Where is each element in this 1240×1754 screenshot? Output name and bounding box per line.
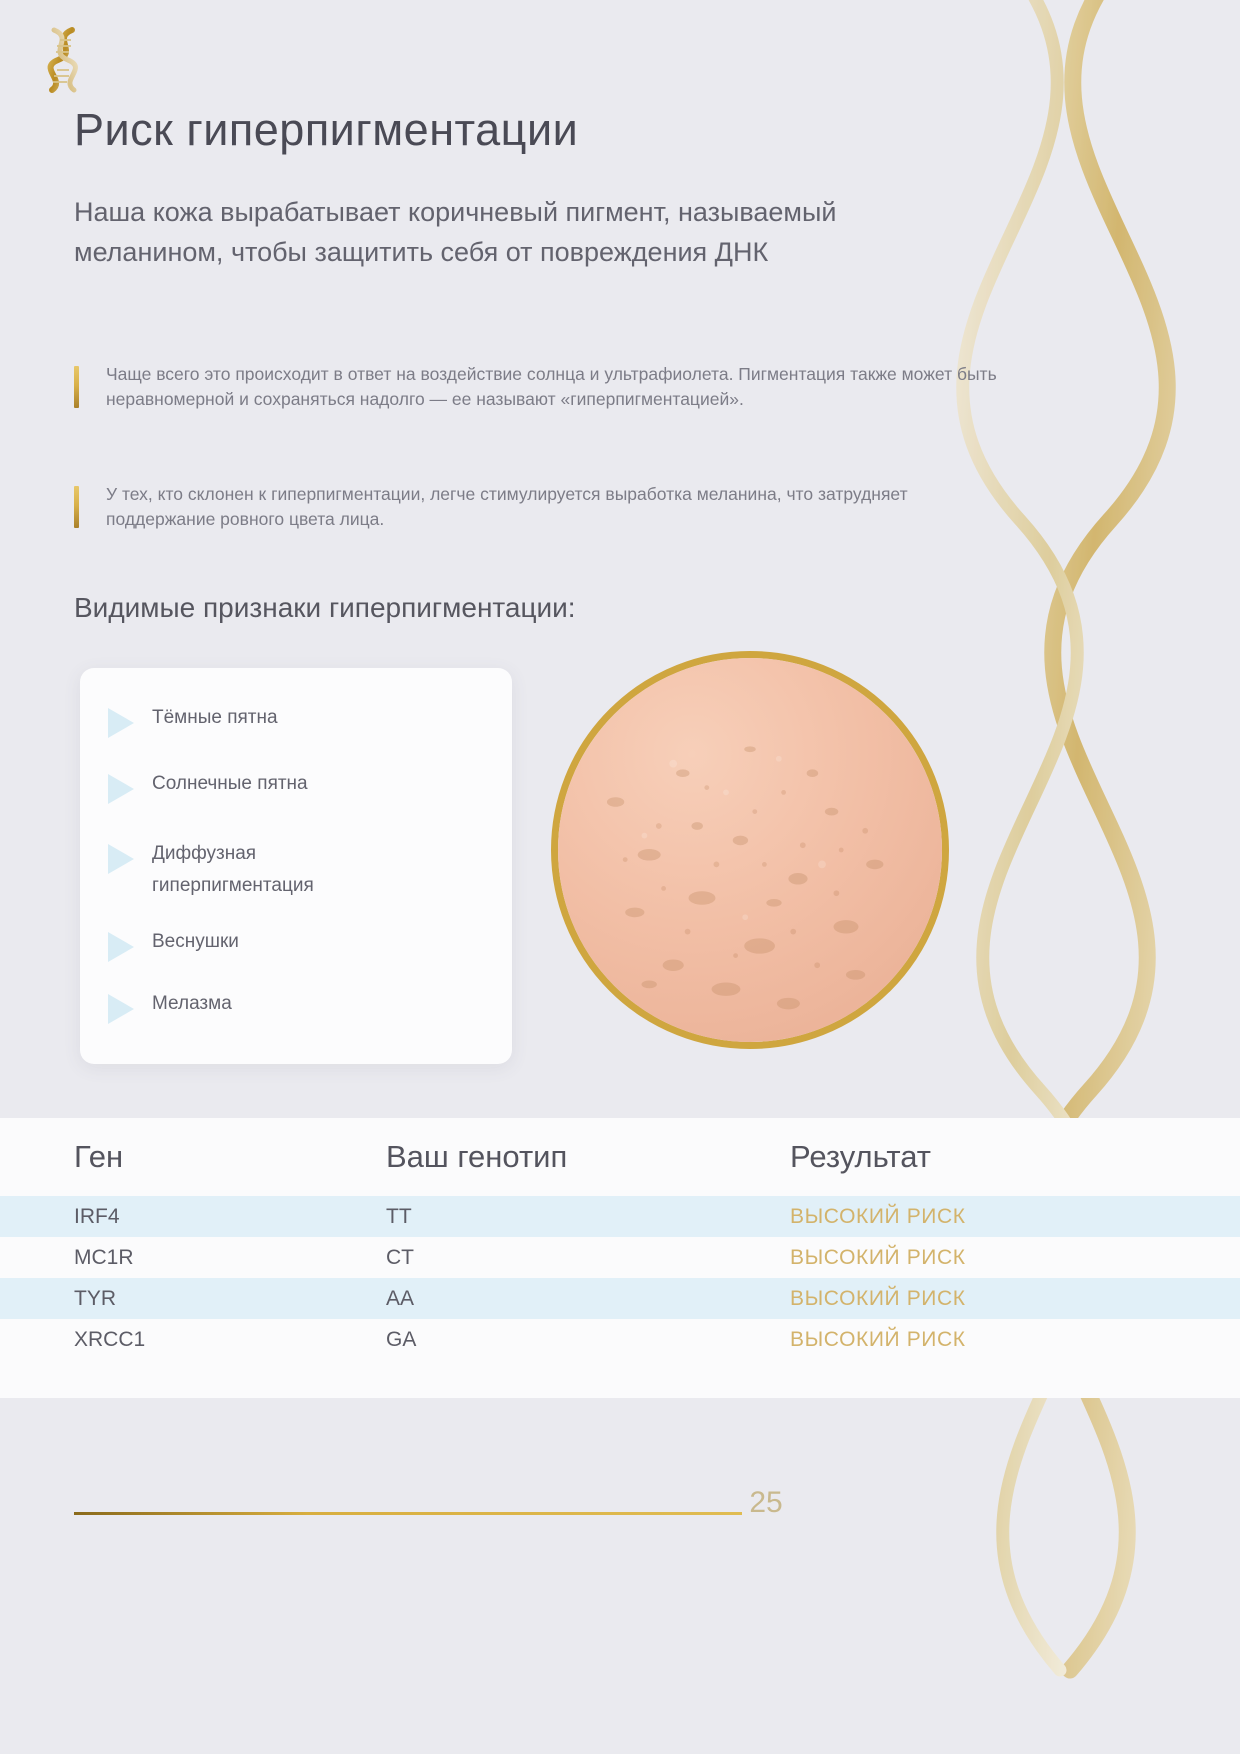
triangle-bullet-icon [108, 932, 134, 962]
pigment-spots [558, 658, 942, 1042]
triangle-bullet-icon [108, 774, 134, 804]
page-subtitle: Наша кожа вырабатывает коричневый пигмен… [74, 192, 974, 272]
cell-result: ВЫСОКИЙ РИСК [790, 1328, 966, 1352]
list-item: Солнечные пятна [108, 768, 308, 804]
column-header-result: Результат [790, 1139, 931, 1175]
cell-genotype: AA [386, 1287, 414, 1311]
column-header-genotype: Ваш генотип [386, 1139, 567, 1175]
skin-closeup-photo [551, 651, 949, 1049]
table-header-row: Ген Ваш генотип Результат [0, 1118, 1240, 1196]
triangle-bullet-icon [108, 708, 134, 738]
page-title: Риск гиперпигментации [74, 104, 578, 156]
cell-result: ВЫСОКИЙ РИСК [790, 1246, 966, 1270]
column-header-gene: Ген [74, 1139, 123, 1175]
cell-gene: IRF4 [74, 1205, 120, 1229]
callout-text-1: Чаще всего это происходит в ответ на воз… [106, 364, 997, 409]
triangle-bullet-icon [108, 994, 134, 1024]
report-page: Риск гиперпигментации Наша кожа вырабаты… [0, 0, 1240, 1754]
genotype-table: Ген Ваш генотип Результат IRF4 TT ВЫСОКИ… [0, 1118, 1240, 1398]
cell-genotype: CT [386, 1246, 414, 1270]
list-item: Тёмные пятна [108, 702, 278, 738]
page-number: 25 [736, 1486, 796, 1520]
table-row: TYR AA ВЫСОКИЙ РИСК [0, 1278, 1240, 1319]
list-item-label: Тёмные пятна [152, 702, 278, 734]
cell-genotype: TT [386, 1205, 412, 1229]
list-item-label: Веснушки [152, 926, 239, 958]
list-item-label: Солнечные пятна [152, 768, 308, 800]
visible-signs-card: Тёмные пятна Солнечные пятна Диффузная г… [80, 668, 512, 1064]
cell-gene: MC1R [74, 1246, 134, 1270]
list-item-label: Мелазма [152, 988, 232, 1020]
cell-result: ВЫСОКИЙ РИСК [790, 1287, 966, 1311]
list-item-label: Диффузная гиперпигментация [152, 838, 402, 902]
table-row: MC1R CT ВЫСОКИЙ РИСК [0, 1237, 1240, 1278]
triangle-bullet-icon [108, 844, 134, 874]
callout-text-2: У тех, кто склонен к гиперпигментации, л… [106, 484, 908, 529]
table-row: XRCC1 GA ВЫСОКИЙ РИСК [0, 1319, 1240, 1360]
cell-gene: TYR [74, 1287, 116, 1311]
signs-section-heading: Видимые признаки гиперпигментации: [74, 592, 576, 624]
gold-accent-bar [74, 366, 79, 408]
cell-genotype: GA [386, 1328, 416, 1352]
list-item: Диффузная гиперпигментация [108, 838, 438, 902]
list-item: Мелазма [108, 988, 232, 1024]
callout-block-2: У тех, кто склонен к гиперпигментации, л… [74, 482, 1006, 532]
cell-result: ВЫСОКИЙ РИСК [790, 1205, 966, 1229]
gold-accent-bar [74, 486, 79, 528]
table-row: IRF4 TT ВЫСОКИЙ РИСК [0, 1196, 1240, 1237]
cell-gene: XRCC1 [74, 1328, 145, 1352]
callout-block-1: Чаще всего это происходит в ответ на воз… [74, 362, 1006, 412]
dna-helix-icon [38, 24, 94, 96]
list-item: Веснушки [108, 926, 239, 962]
footer-divider [74, 1512, 742, 1515]
